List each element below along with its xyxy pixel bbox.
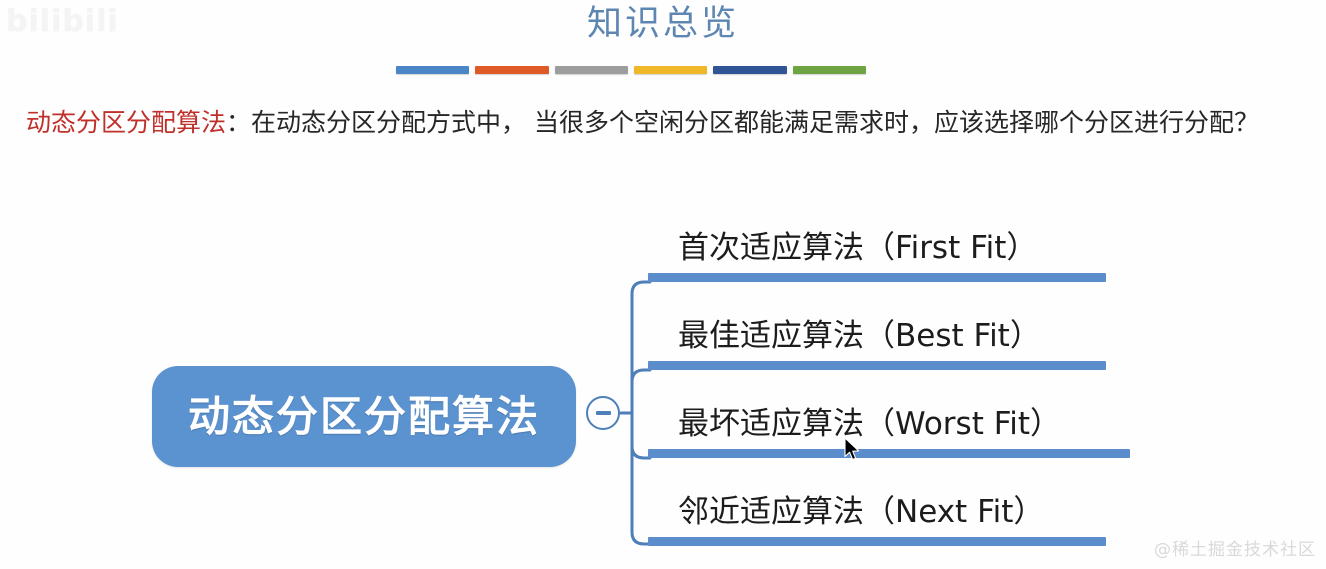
segment-green — [793, 66, 866, 74]
segment-navy — [713, 66, 786, 74]
mindmap-root-label: 动态分区分配算法 — [188, 392, 540, 442]
minus-circle-icon[interactable] — [586, 396, 620, 430]
mindmap-branch-underline — [648, 449, 1130, 458]
mindmap-root-node[interactable]: 动态分区分配算法 — [152, 366, 576, 467]
community-watermark: @稀土掘金技术社区 — [1154, 539, 1316, 561]
question-paragraph: 动态分区分配算法：在动态分区分配方式中， 当很多个空闲分区都能满足需求时，应该选… — [26, 104, 1294, 142]
page-title: 知识总览 — [0, 2, 1326, 46]
mindmap-branch-label: 邻近适应算法（Next Fit） — [678, 492, 1044, 532]
question-keyword: 动态分区分配算法 — [26, 108, 226, 137]
segment-orange — [475, 66, 548, 74]
mindmap-branch-underline — [648, 537, 1106, 546]
segment-yellow — [634, 66, 707, 74]
segment-gray — [555, 66, 628, 74]
mindmap-branch-label: 首次适应算法（First Fit） — [678, 228, 1037, 268]
segment-blue — [396, 66, 469, 74]
title-color-rule — [396, 66, 866, 75]
mindmap-branch-underline — [648, 273, 1106, 282]
mindmap-branch-label: 最佳适应算法（Best Fit） — [678, 316, 1041, 356]
slide-canvas: bilibili 知识总览 动态分区分配算法：在动态分区分配方式中， 当很多个空… — [0, 0, 1326, 569]
question-body: ：在动态分区分配方式中， 当很多个空闲分区都能满足需求时，应该选择哪个分区进行分… — [226, 108, 1259, 137]
minus-glyph — [596, 411, 611, 415]
mindmap-branch-underline — [648, 361, 1106, 370]
mindmap-branch-label: 最坏适应算法（Worst Fit） — [678, 404, 1061, 444]
mindmap: 动态分区分配算法 首次适应算法（First Fit） 最佳适应算法（Best F… — [0, 200, 1326, 569]
